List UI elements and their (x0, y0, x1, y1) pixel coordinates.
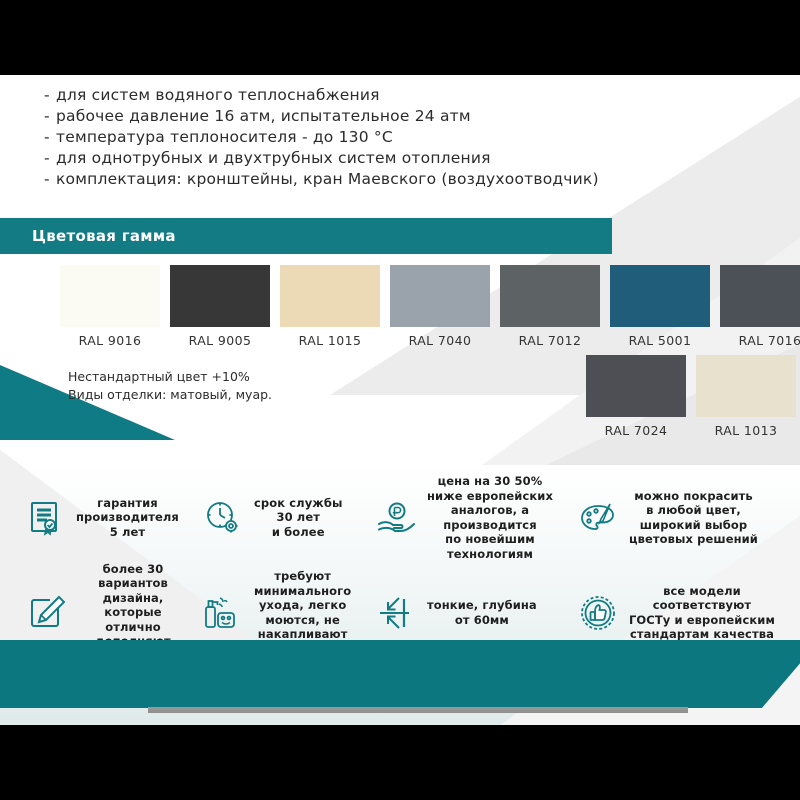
color-swatch[interactable]: RAL 7040 (387, 265, 493, 348)
feature-line: можно покрасить (629, 489, 758, 504)
feature-line: цена на 30 50% (427, 474, 553, 489)
feature-line: аналогов, а (427, 503, 553, 518)
feature-warranty: гарантия производителя 5 лет (0, 470, 190, 565)
color-note-line-1: Нестандартный цвет +10% (68, 368, 272, 386)
feature-line: вариантов (76, 576, 190, 591)
feature-line: моются, не (254, 613, 351, 628)
feature-line: в любой цвет, (629, 503, 758, 518)
hand-ruble-icon (373, 495, 419, 541)
depth-arrows-icon (373, 590, 419, 636)
color-swatch[interactable]: RAL 1013 (693, 355, 799, 438)
feature-line: тонкие, глубина (427, 598, 537, 613)
color-note-line-2: Виды отделки: матовый, муар. (68, 386, 272, 404)
color-swatch[interactable]: RAL 7016 (717, 265, 800, 348)
feature-line: технологиям (427, 547, 553, 562)
color-swatch[interactable]: RAL 7024 (583, 355, 689, 438)
feature-line: требуют (254, 569, 351, 584)
swatch-chip (60, 265, 160, 327)
spray-cleaning-icon (200, 590, 246, 636)
color-swatch[interactable]: RAL 7012 (497, 265, 603, 348)
feature-line: от 60мм (427, 613, 537, 628)
swatch-label: RAL 7012 (519, 333, 582, 348)
swatch-label: RAL 9016 (79, 333, 142, 348)
slide-root: - для систем водяного теплоснабжения - р… (0, 0, 800, 800)
color-swatch[interactable]: RAL 1015 (277, 265, 383, 348)
feature-line: 30 лет (254, 510, 342, 525)
swatch-chip (610, 265, 710, 327)
spec-text: для систем водяного теплоснабжения (56, 85, 380, 106)
feature-line: производится (427, 518, 553, 533)
spec-item: - рабочее давление 16 атм, испытательное… (44, 106, 664, 127)
feature-line: дизайна, которые (76, 591, 190, 620)
bullet-dash-icon: - (44, 169, 56, 190)
spec-item: - комплектация: кронштейны, кран Маевско… (44, 169, 664, 190)
swatch-label: RAL 1013 (715, 423, 778, 438)
swatch-chip (696, 355, 796, 417)
feature-line: все модели (629, 584, 775, 599)
feature-line: гарантия (76, 496, 179, 511)
color-swatch[interactable]: RAL 9005 (167, 265, 273, 348)
feature-line: ГОСТу и европейским (629, 613, 775, 628)
feature-line: ниже европейских (427, 489, 553, 504)
feature-warranty-text: гарантия производителя 5 лет (76, 496, 179, 540)
swatch-chip (720, 265, 800, 327)
feature-line: ухода, легко (254, 598, 351, 613)
swatch-chip (500, 265, 600, 327)
thumbs-up-badge-icon (575, 590, 621, 636)
feature-gost-text: все модели соответствуют ГОСТу и европей… (629, 584, 775, 642)
color-note: Нестандартный цвет +10% Виды отделки: ма… (68, 368, 272, 404)
features-section: гарантия производителя 5 лет (0, 470, 800, 660)
feature-line: стандартам качества (629, 627, 775, 642)
color-swatch-row-secondary: RAL 7024 RAL 1013 (583, 355, 799, 438)
bottom-grey-bar (148, 707, 688, 713)
clock-gear-icon (200, 495, 246, 541)
specifications-list: - для систем водяного теплоснабжения - р… (44, 85, 664, 190)
feature-line: и более (254, 525, 342, 540)
color-swatch[interactable]: RAL 9016 (57, 265, 163, 348)
swatch-chip (586, 355, 686, 417)
swatch-label: RAL 9005 (189, 333, 252, 348)
feature-paint-text: можно покрасить в любой цвет, широкий вы… (629, 489, 758, 547)
color-swatch-row-primary: RAL 9016 RAL 9005 RAL 1015 RAL 7040 RAL … (57, 265, 800, 348)
feature-line: производителя (76, 510, 179, 525)
swatch-label: RAL 5001 (629, 333, 692, 348)
swatch-label: RAL 7016 (739, 333, 800, 348)
feature-line: широкий выбор (629, 518, 758, 533)
feature-line: по новейшим (427, 532, 553, 547)
feature-line: цветовых решений (629, 532, 758, 547)
swatch-chip (280, 265, 380, 327)
feature-line: соответствуют (629, 598, 775, 613)
spec-item: - для однотрубных и двухтрубных систем о… (44, 148, 664, 169)
spec-text: рабочее давление 16 атм, испытательное 2… (56, 106, 471, 127)
bullet-dash-icon: - (44, 106, 56, 127)
color-gamut-header: Цветовая гамма (0, 218, 612, 254)
color-gamut-title: Цветовая гамма (32, 227, 176, 245)
feature-service-life: срок службы 30 лет и более (190, 470, 365, 565)
feature-line: срок службы (254, 496, 342, 511)
feature-line: 5 лет (76, 525, 179, 540)
spec-text: температура теплоносителя - до 130 °C (56, 127, 393, 148)
bullet-dash-icon: - (44, 127, 56, 148)
spec-item: - для систем водяного теплоснабжения (44, 85, 664, 106)
feature-depth-text: тонкие, глубина от 60мм (427, 598, 537, 627)
spec-item: - температура теплоносителя - до 130 °C (44, 127, 664, 148)
spec-text: комплектация: кронштейны, кран Маевского… (56, 169, 599, 190)
bullet-dash-icon: - (44, 148, 56, 169)
pencil-design-icon (22, 590, 68, 636)
swatch-chip (170, 265, 270, 327)
bottom-teal-band (0, 640, 800, 708)
feature-line: минимального (254, 584, 351, 599)
feature-price-text: цена на 30 50% ниже европейских аналогов… (427, 474, 553, 561)
features-row-1: гарантия производителя 5 лет (0, 470, 800, 565)
swatch-label: RAL 7024 (605, 423, 668, 438)
swatch-label: RAL 1015 (299, 333, 362, 348)
certificate-icon (22, 495, 68, 541)
feature-price: цена на 30 50% ниже европейских аналогов… (365, 470, 565, 565)
palette-icon (575, 495, 621, 541)
feature-service-life-text: срок службы 30 лет и более (254, 496, 342, 540)
spec-text: для однотрубных и двухтрубных систем ото… (56, 148, 491, 169)
feature-paint: можно покрасить в любой цвет, широкий вы… (565, 470, 790, 565)
bullet-dash-icon: - (44, 85, 56, 106)
color-swatch[interactable]: RAL 5001 (607, 265, 713, 348)
slide-canvas: - для систем водяного теплоснабжения - р… (0, 75, 800, 725)
swatch-chip (390, 265, 490, 327)
feature-line: накапливают (254, 627, 351, 642)
swatch-label: RAL 7040 (409, 333, 472, 348)
feature-line: более 30 (76, 562, 190, 577)
